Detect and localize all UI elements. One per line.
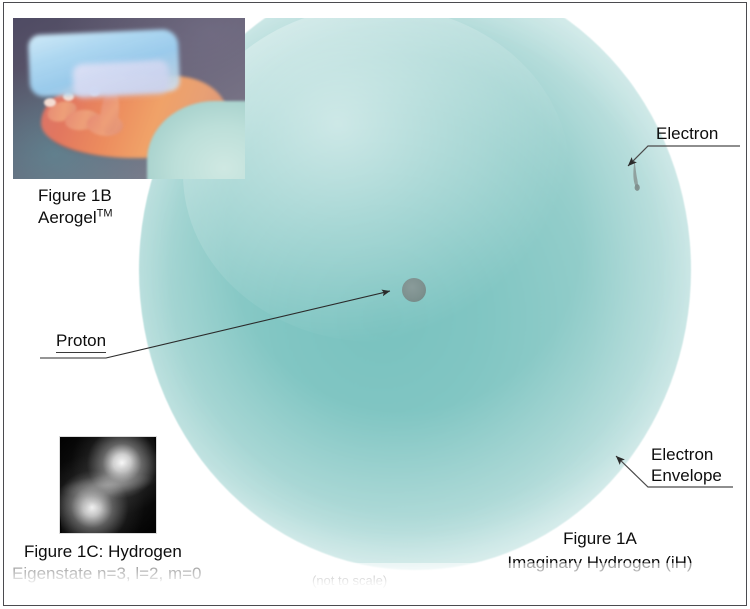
sphere-bottom-mask [0, 563, 750, 609]
proton-leader-line [40, 291, 390, 358]
electron-leader-line [628, 146, 740, 166]
annotation-arrows [0, 0, 750, 609]
electron-envelope-leader-line [616, 456, 733, 487]
sphere-top-mask [0, 0, 750, 18]
figure-root: Proton Electron Electron Envelope Figure… [0, 0, 750, 609]
